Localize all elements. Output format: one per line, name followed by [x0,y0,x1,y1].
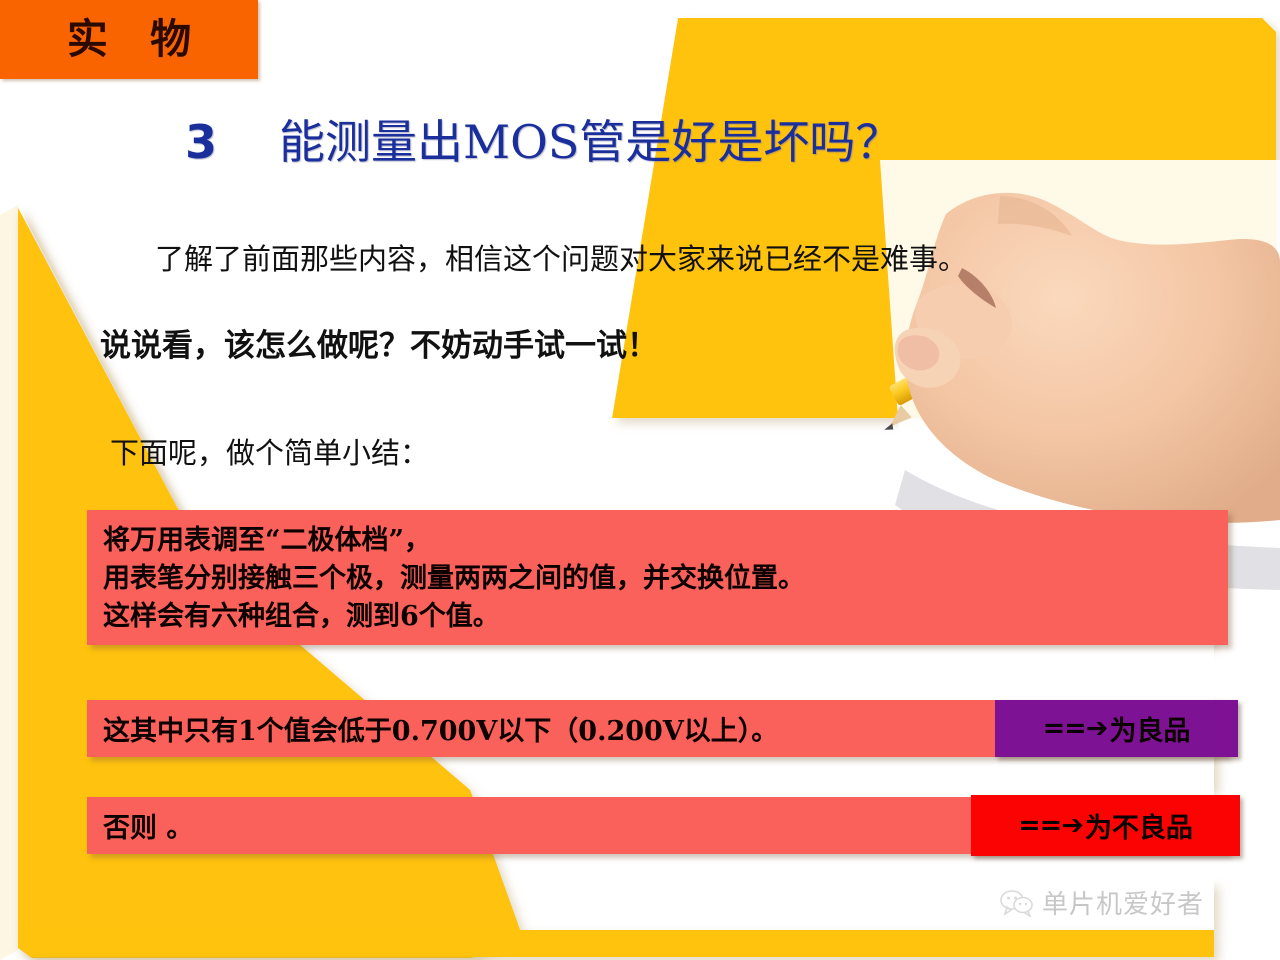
header-banner: 实 物 [0,0,258,79]
summary-lead-paragraph: 下面呢，做个简单小结： [110,430,429,472]
intro-paragraph: 了解了前面那些内容，相信这个问题对大家来说已经不是难事。 [155,236,967,278]
bad-verdict-badge: ==➔ 为不良品 [971,795,1240,856]
good-verdict-badge: ==➔ 为良品 [995,700,1238,757]
page-title: 3 能测量出MOS管是好是坏吗？ [185,119,1065,191]
title-number: 3 [185,119,217,165]
good-verdict-label: 为良品 [1109,709,1190,748]
bad-result-text: 否则 。 [87,806,193,845]
steps-line-2: 用表笔分别接触三个极，测量两两之间的值，并交换位置。 [103,560,1228,598]
double-arrow-icon: ==➔ [1018,810,1083,841]
steps-info-box: 将万用表调至“二极体档”， 用表笔分别接触三个极，测量两两之间的值，并交换位置。… [87,510,1228,645]
watermark: 单片机爱好者 [1000,884,1204,921]
slide-canvas: 实 物 3 能测量出MOS管是好是坏吗？ 了解了前面那些内容，相信这个问题对大家… [0,0,1280,960]
bad-verdict-label: 为不良品 [1085,806,1193,845]
left-cream-strip [0,205,18,960]
header-banner-label: 实 物 [53,19,205,60]
steps-line-1: 将万用表调至“二极体档”， [103,522,1228,560]
prompt-paragraph: 说说看，该怎么做呢？不妨动手试一试！ [100,320,658,365]
steps-line-3: 这样会有六种组合，测到6个值。 [103,598,1228,636]
double-arrow-icon: ==➔ [1043,713,1108,744]
wechat-icon [1000,889,1034,917]
watermark-label: 单片机爱好者 [1042,884,1204,921]
good-result-text: 这其中只有1个值会低于0.700V以下（0.200V以上）。 [87,709,778,748]
title-text: 能测量出MOS管是好是坏吗？ [279,119,901,165]
